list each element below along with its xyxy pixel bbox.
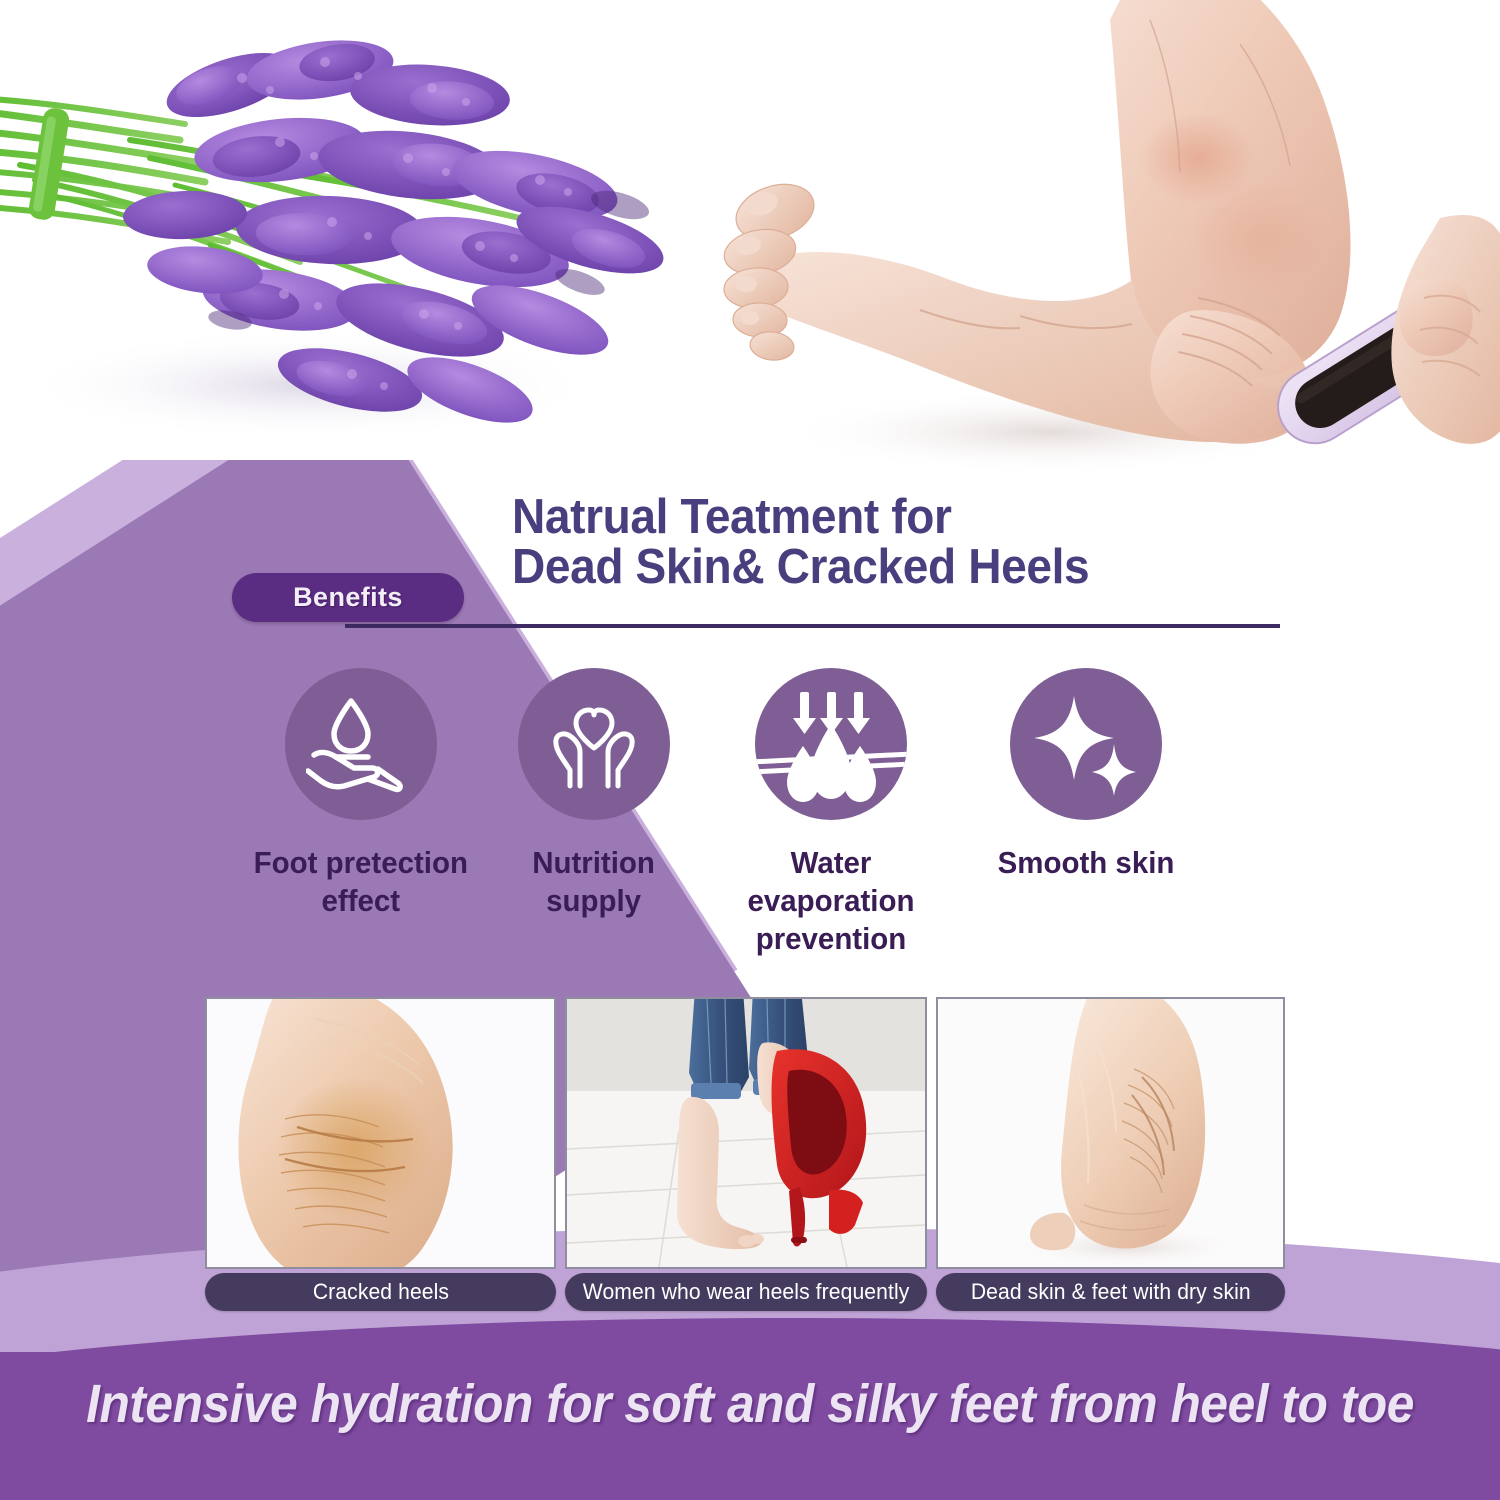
gallery-caption-row: Cracked heels Women who wear heels frequ…	[205, 1273, 1285, 1311]
woman-wearing-red-heels-photo	[565, 997, 927, 1269]
caption-text-2: Women who wear heels frequently	[583, 1279, 910, 1305]
benefit-label-4: Smooth skin	[998, 844, 1175, 882]
footer-tagline: Intensive hydration for soft and silky f…	[60, 1372, 1440, 1436]
caption-pill-women-heels: Women who wear heels frequently	[565, 1273, 927, 1311]
benefit-label-1-line2: effect	[322, 883, 401, 918]
headline-divider	[345, 624, 1280, 628]
product-banner: Natrual Teatment for Dead Skin& Cracked …	[0, 0, 1500, 1500]
hands-heart-icon	[518, 668, 670, 820]
water-evaporation-barrier-icon	[755, 668, 907, 820]
caption-text-1: Cracked heels	[312, 1279, 448, 1305]
benefits-grid: Foot pretection effect Nutrition supply	[236, 668, 1296, 958]
benefit-item-water-evaporation: Water evaporation prevention	[701, 668, 961, 958]
benefit-label-3-line1: Water evaporation	[748, 845, 915, 918]
headline-line-1: Natrual Teatment for	[512, 492, 1264, 542]
caption-pill-dead-skin: Dead skin & feet with dry skin	[936, 1273, 1285, 1311]
benefit-label-1: Foot pretection effect	[254, 844, 468, 920]
foot-file-treatment-photo	[720, 0, 1500, 490]
benefit-item-smooth-skin: Smooth skin	[961, 668, 1211, 958]
benefit-label-2: Nutrition supply	[532, 844, 655, 920]
hero-section	[0, 0, 1500, 500]
page-title: Natrual Teatment for Dead Skin& Cracked …	[512, 492, 1312, 592]
benefit-label-3: Water evaporation prevention	[708, 844, 955, 958]
lavender-bouquet-photo	[0, 0, 700, 460]
headline-line-2: Dead Skin& Cracked Heels	[512, 542, 1264, 592]
caption-text-3: Dead skin & feet with dry skin	[971, 1279, 1251, 1305]
benefit-label-2-line2: supply	[546, 883, 641, 918]
benefit-label-1-line1: Foot pretection	[254, 845, 468, 880]
dry-skin-heel-photo	[936, 997, 1285, 1269]
benefit-label-3-line2: prevention	[756, 921, 907, 956]
caption-pill-cracked-heels: Cracked heels	[205, 1273, 556, 1311]
gallery-photo-row	[205, 997, 1285, 1269]
hand-water-drop-icon	[285, 668, 437, 820]
benefit-label-4-line1: Smooth skin	[998, 845, 1175, 880]
benefits-badge-label: Benefits	[293, 582, 403, 613]
benefit-item-nutrition-supply: Nutrition supply	[486, 668, 701, 958]
benefit-item-foot-protection: Foot pretection effect	[236, 668, 486, 958]
benefit-label-2-line1: Nutrition	[532, 845, 655, 880]
sparkle-shine-icon	[1010, 668, 1162, 820]
cracked-heel-closeup-photo	[205, 997, 556, 1269]
benefits-badge: Benefits	[232, 573, 464, 622]
